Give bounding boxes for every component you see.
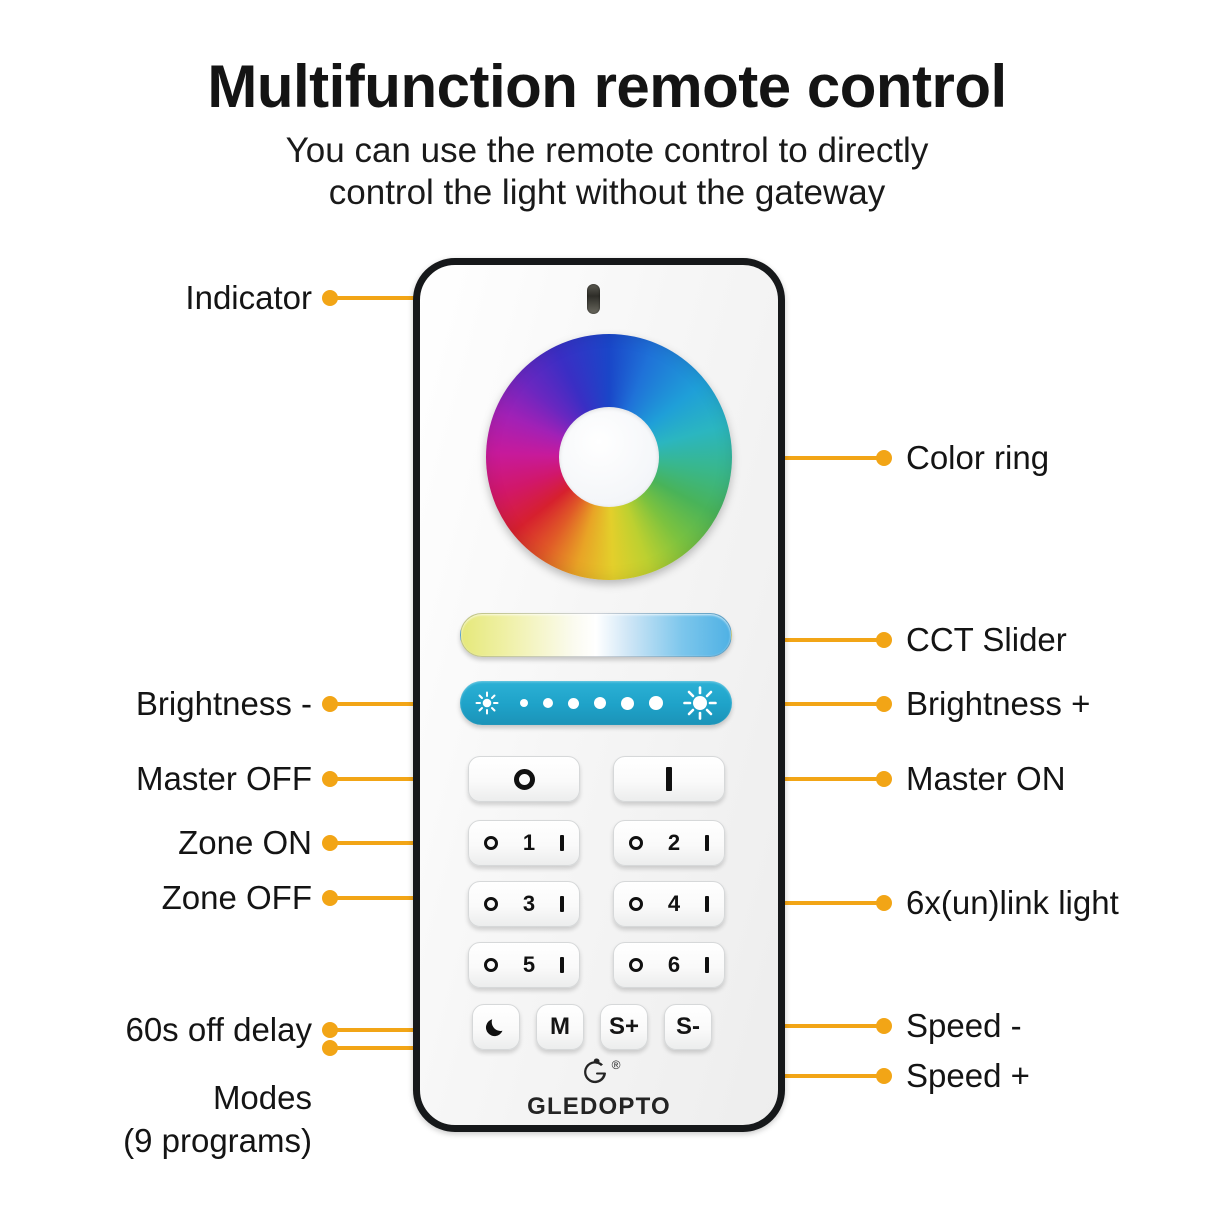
brand-block: ® GLEDOPTO <box>413 1055 785 1121</box>
power-on-bar-icon <box>666 767 672 791</box>
callout-color-ring: Color ring <box>906 438 1049 478</box>
zone-number: 3 <box>523 891 535 917</box>
speed-down-key-label: S- <box>676 1013 700 1041</box>
off-delay-button[interactable] <box>472 1004 520 1050</box>
power-off-circle-icon <box>514 769 535 790</box>
brightness-dot <box>594 697 606 709</box>
callout-speed-plus: Speed + <box>906 1056 1030 1096</box>
zone-number: 4 <box>668 891 680 917</box>
zone-3-button[interactable]: 3 <box>468 881 580 927</box>
zone-off-circle-icon <box>484 958 498 972</box>
callout-modes: Modes <box>0 1078 312 1118</box>
subtitle-line-1: You can use the remote control to direct… <box>286 131 929 170</box>
brightness-dot <box>568 698 579 709</box>
zone-6-button[interactable]: 6 <box>613 942 725 988</box>
speed-up-key-label: S+ <box>609 1013 639 1041</box>
gledopto-logo-icon: ® <box>578 1055 621 1089</box>
zone-5-button[interactable]: 5 <box>468 942 580 988</box>
brightness-dot <box>649 696 663 710</box>
zone-2-button[interactable]: 2 <box>613 820 725 866</box>
zone-1-button[interactable]: 1 <box>468 820 580 866</box>
zone-on-bar-icon <box>705 835 709 851</box>
zone-number: 6 <box>668 952 680 978</box>
zone-on-bar-icon <box>705 957 709 973</box>
poster-canvas: Multifunction remote control You can use… <box>0 0 1214 1214</box>
color-ring-touch-pad[interactable] <box>486 334 732 580</box>
zone-off-circle-icon <box>629 836 643 850</box>
modes-button[interactable]: M <box>536 1004 584 1050</box>
zone-off-circle-icon <box>629 958 643 972</box>
page-subtitle: You can use the remote control to direct… <box>0 130 1214 214</box>
sun-large-icon <box>682 685 718 721</box>
brightness-dot <box>621 697 634 710</box>
moon-icon <box>483 1014 509 1040</box>
modes-key-label: M <box>550 1013 570 1041</box>
zone-number: 5 <box>523 952 535 978</box>
zone-4-button[interactable]: 4 <box>613 881 725 927</box>
speed-down-button[interactable]: S- <box>664 1004 712 1050</box>
callout-modes-programs: (9 programs) <box>0 1121 312 1161</box>
brightness-slider[interactable] <box>460 681 732 725</box>
callout-brightness-plus: Brightness + <box>906 684 1090 724</box>
callout-link-light: 6x(un)link light <box>906 883 1119 923</box>
master-off-button[interactable] <box>468 756 580 802</box>
callout-brightness-minus: Brightness - <box>0 684 312 724</box>
zone-on-bar-icon <box>560 957 564 973</box>
callout-indicator: Indicator <box>0 278 312 318</box>
zone-number: 1 <box>523 830 535 856</box>
callout-zone-off: Zone OFF <box>0 878 312 918</box>
brightness-dot <box>543 698 553 708</box>
brightness-dot <box>520 699 528 707</box>
zone-on-bar-icon <box>560 835 564 851</box>
zone-off-circle-icon <box>484 897 498 911</box>
speed-up-button[interactable]: S+ <box>600 1004 648 1050</box>
callout-speed-minus: Speed - <box>906 1006 1022 1046</box>
zone-on-bar-icon <box>560 896 564 912</box>
zone-on-bar-icon <box>705 896 709 912</box>
brightness-step-dots <box>520 696 663 710</box>
zone-off-circle-icon <box>484 836 498 850</box>
callout-off-delay: 60s off delay <box>0 1010 312 1050</box>
callout-master-on: Master ON <box>906 759 1066 799</box>
callout-master-off: Master OFF <box>0 759 312 799</box>
cct-slider[interactable] <box>460 613 732 657</box>
indicator-led <box>587 284 600 314</box>
callout-cct-slider: CCT Slider <box>906 620 1067 660</box>
zone-off-circle-icon <box>629 897 643 911</box>
subtitle-line-2: control the light without the gateway <box>0 172 1214 214</box>
registered-mark: ® <box>612 1058 621 1072</box>
zone-number: 2 <box>668 830 680 856</box>
sun-small-icon <box>474 690 500 716</box>
brand-name: GLEDOPTO <box>413 1093 785 1121</box>
callout-zone-on: Zone ON <box>0 823 312 863</box>
page-title: Multifunction remote control <box>0 52 1214 121</box>
master-on-button[interactable] <box>613 756 725 802</box>
